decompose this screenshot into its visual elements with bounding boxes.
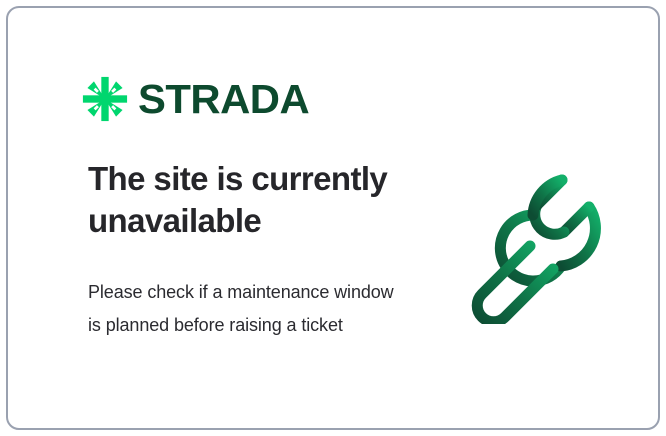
page-title: The site is currently unavailable [88,158,428,242]
brand-wordmark: STRADA [138,79,309,120]
page-description: Please check if a maintenance window is … [88,276,398,342]
status-card: STRADA The site is currently unavailable… [6,6,660,430]
wrench-icon [460,158,626,324]
brand-logo[interactable]: STRADA [82,76,306,122]
error-page: STRADA The site is currently unavailable… [0,0,666,436]
strada-asterisk-icon [82,76,128,122]
